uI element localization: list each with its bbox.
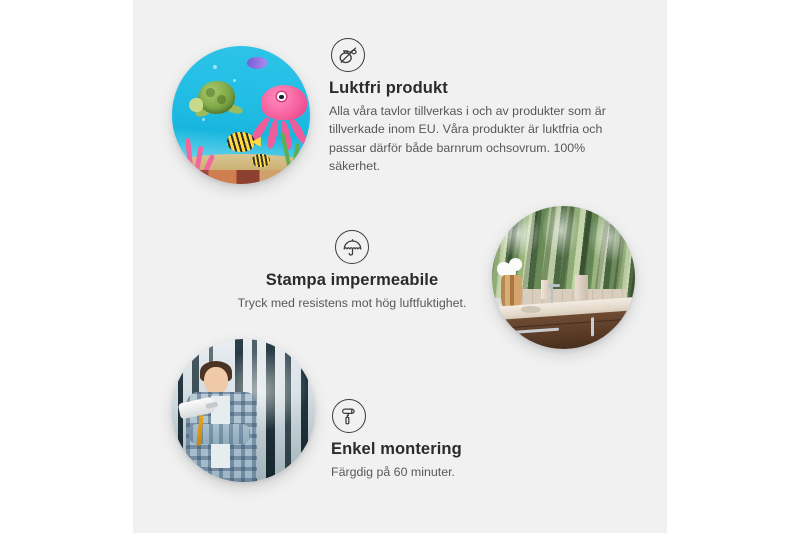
feature-block-odourless: Luktfri produkt Alla våra tavlor tillver… bbox=[329, 38, 629, 175]
bathroom-bottle-tall bbox=[575, 275, 588, 301]
feature-block-easymount: Enkel montering Färgdig på 60 minuter. bbox=[331, 399, 571, 481]
undersea-bottom-strip bbox=[183, 170, 299, 184]
paint-roller-icon bbox=[332, 399, 366, 433]
undersea-coral bbox=[175, 129, 222, 176]
painter-woman bbox=[181, 362, 270, 482]
undersea-scene bbox=[172, 46, 310, 184]
photo-circle-undersea bbox=[172, 46, 310, 184]
feature-block-waterproof: Stampa impermeabile Tryck med resistens … bbox=[221, 230, 483, 312]
feature-description-waterproof: Tryck med resistens mot hög luftfuktighe… bbox=[221, 294, 483, 312]
undersea-turtle bbox=[189, 79, 244, 120]
bathroom-scene bbox=[492, 206, 635, 349]
bathroom-faucet bbox=[551, 286, 554, 303]
painter-scene bbox=[172, 339, 315, 482]
no-spray-bottle-icon bbox=[331, 38, 365, 72]
photo-circle-painter bbox=[172, 339, 315, 482]
product-feature-page: Luktfri produkt Alla våra tavlor tillver… bbox=[0, 0, 800, 533]
feature-description-easymount: Färgdig på 60 minuter. bbox=[331, 463, 571, 481]
feature-description-odourless: Alla våra tavlor tillverkas i och av pro… bbox=[329, 102, 629, 175]
feature-title-waterproof: Stampa impermeabile bbox=[221, 271, 483, 290]
umbrella-icon bbox=[335, 230, 369, 264]
undersea-yellow-fish bbox=[227, 132, 255, 153]
feature-canvas: Luktfri produkt Alla våra tavlor tillver… bbox=[133, 0, 667, 533]
feature-title-odourless: Luktfri produkt bbox=[329, 79, 629, 98]
photo-circle-bathroom bbox=[492, 206, 635, 349]
feature-title-easymount: Enkel montering bbox=[331, 440, 571, 459]
